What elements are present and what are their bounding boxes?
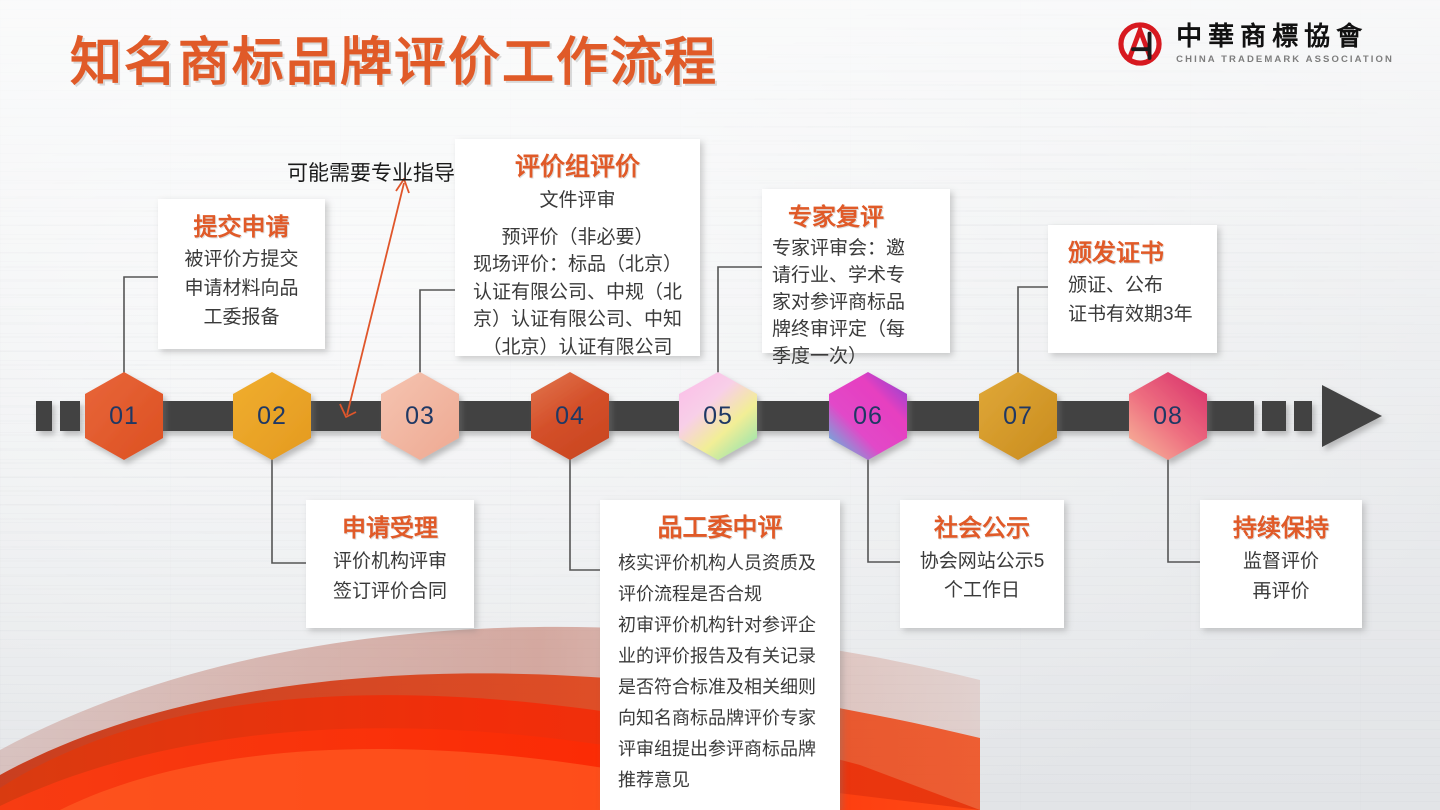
step-card-02-body: 评价机构评审 签订评价合同 — [316, 547, 464, 608]
hex-label-02: 02 — [233, 372, 311, 460]
annotation-note: 可能需要专业指导 — [287, 157, 455, 187]
step-card-04-body: 核实评价机构人员资质及 评价流程是否合规 初审评价机构针对参评企 业的评价报告及… — [610, 548, 830, 796]
step-card-04[interactable]: 品工委中评 核实评价机构人员资质及 评价流程是否合规 初审评价机构针对参评企 业… — [600, 500, 840, 810]
step-card-01[interactable]: 提交申请 被评价方提交 申请材料向品 工委报备 — [158, 199, 325, 349]
step-card-07-title: 颁发证书 — [1058, 233, 1207, 268]
step-card-06-title: 社会公示 — [910, 508, 1054, 543]
hex-label-05: 05 — [679, 372, 757, 460]
hex-label-06: 06 — [829, 372, 907, 460]
hex-label-01: 01 — [85, 372, 163, 460]
hex-number-02: 02 — [233, 372, 311, 460]
logo-chinese-name: 中華商標協會 — [1176, 24, 1368, 50]
brand-logo: 中華商標協會 CHINA TRADEMARK ASSOCIATION — [1114, 18, 1394, 70]
step-card-08[interactable]: 持续保持 监督评价 再评价 — [1200, 500, 1362, 628]
hex-label-03: 03 — [381, 372, 459, 460]
logo-english-name: CHINA TRADEMARK ASSOCIATION — [1176, 55, 1394, 65]
step-card-05-title: 专家复评 — [772, 197, 940, 232]
hex-number-07: 07 — [979, 372, 1057, 460]
cta-emblem-icon — [1114, 18, 1166, 70]
hex-number-05: 05 — [679, 372, 757, 460]
step-card-08-title: 持续保持 — [1210, 508, 1352, 543]
hex-number-04: 04 — [531, 372, 609, 460]
step-card-03-body: 文件评审 预评价（非必要） 现场评价：标品（北京） 认证有限公司、中规（北 京）… — [465, 187, 690, 361]
step-card-03-title: 评价组评价 — [465, 147, 690, 183]
hex-number-03: 03 — [381, 372, 459, 460]
step-card-06[interactable]: 社会公示 协会网站公示5 个工作日 — [900, 500, 1064, 628]
hex-label-07: 07 — [979, 372, 1057, 460]
hex-number-01: 01 — [85, 372, 163, 460]
step-card-08-body: 监督评价 再评价 — [1210, 547, 1352, 608]
step-card-07[interactable]: 颁发证书 颁证、公布 证书有效期3年 — [1048, 225, 1217, 353]
hex-label-04: 04 — [531, 372, 609, 460]
hex-number-08: 08 — [1129, 372, 1207, 460]
step-card-01-body: 被评价方提交 申请材料向品 工委报备 — [168, 246, 315, 333]
step-card-05[interactable]: 专家复评 专家评审会：邀 请行业、学术专 家对参评商标品 牌终审评定（每 季度一… — [762, 189, 950, 353]
step-card-02[interactable]: 申请受理 评价机构评审 签订评价合同 — [306, 500, 474, 628]
hex-label-08: 08 — [1129, 372, 1207, 460]
step-card-03[interactable]: 评价组评价 文件评审 预评价（非必要） 现场评价：标品（北京） 认证有限公司、中… — [455, 139, 700, 356]
step-card-05-body: 专家评审会：邀 请行业、学术专 家对参评商标品 牌终审评定（每 季度一次） — [772, 236, 940, 371]
step-card-01-title: 提交申请 — [168, 207, 315, 242]
step-card-02-title: 申请受理 — [316, 508, 464, 543]
step-card-06-body: 协会网站公示5 个工作日 — [910, 547, 1054, 606]
hex-number-06: 06 — [829, 372, 907, 460]
step-card-07-body: 颁证、公布 证书有效期3年 — [1058, 272, 1207, 329]
page-title: 知名商标品牌评价工作流程 — [70, 20, 718, 95]
step-card-04-title: 品工委中评 — [610, 508, 830, 544]
